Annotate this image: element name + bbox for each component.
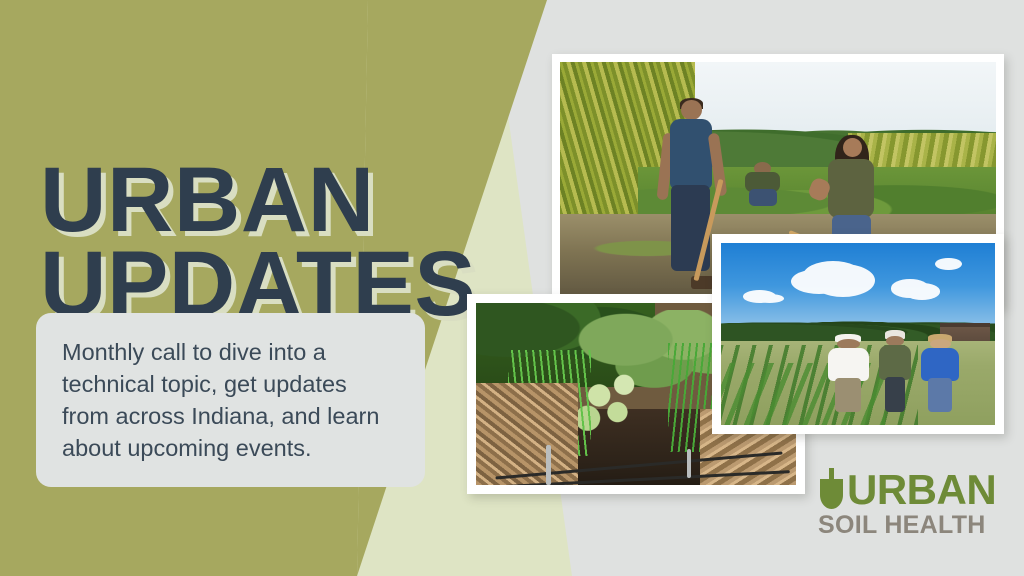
cloud-3 (743, 290, 776, 303)
description-text: Monthly call to dive into a technical to… (62, 337, 399, 465)
pB-legs (885, 377, 905, 412)
description-card: Monthly call to dive into a technical to… (36, 313, 425, 487)
man-head (681, 100, 702, 120)
cloud-2 (891, 279, 929, 297)
man-legs (671, 185, 710, 270)
man-torso (670, 119, 712, 190)
person-walking-white-shirt (825, 334, 872, 410)
pA-legs (835, 378, 861, 412)
logo-wordmark-row: URBAN (818, 466, 1004, 510)
woman-head (843, 138, 862, 157)
woman-torso (828, 159, 874, 218)
garden-stake-2 (687, 449, 691, 478)
shovel-u-icon (818, 468, 845, 510)
person-walking-blue-shirt (918, 334, 962, 410)
logo-word-urban: URBAN (847, 470, 996, 510)
person-walking-olive-shirt (877, 330, 913, 410)
garden-stake-1 (546, 445, 551, 485)
kneeler-legs (749, 189, 777, 205)
banner-canvas: URBAN UPDATES Monthly call to dive into … (0, 0, 1024, 576)
person-kneeling (743, 162, 782, 205)
urban-soil-health-logo: URBAN SOIL HEALTH (818, 466, 1004, 536)
photo-walking-corn-field (712, 234, 1004, 434)
photo-3-image (721, 243, 995, 425)
logo-tagline: SOIL HEALTH (818, 511, 1004, 540)
pB-shirt (879, 345, 910, 380)
pC-shirt (921, 348, 960, 382)
pA-shirt (828, 348, 869, 382)
pC-legs (928, 378, 953, 412)
